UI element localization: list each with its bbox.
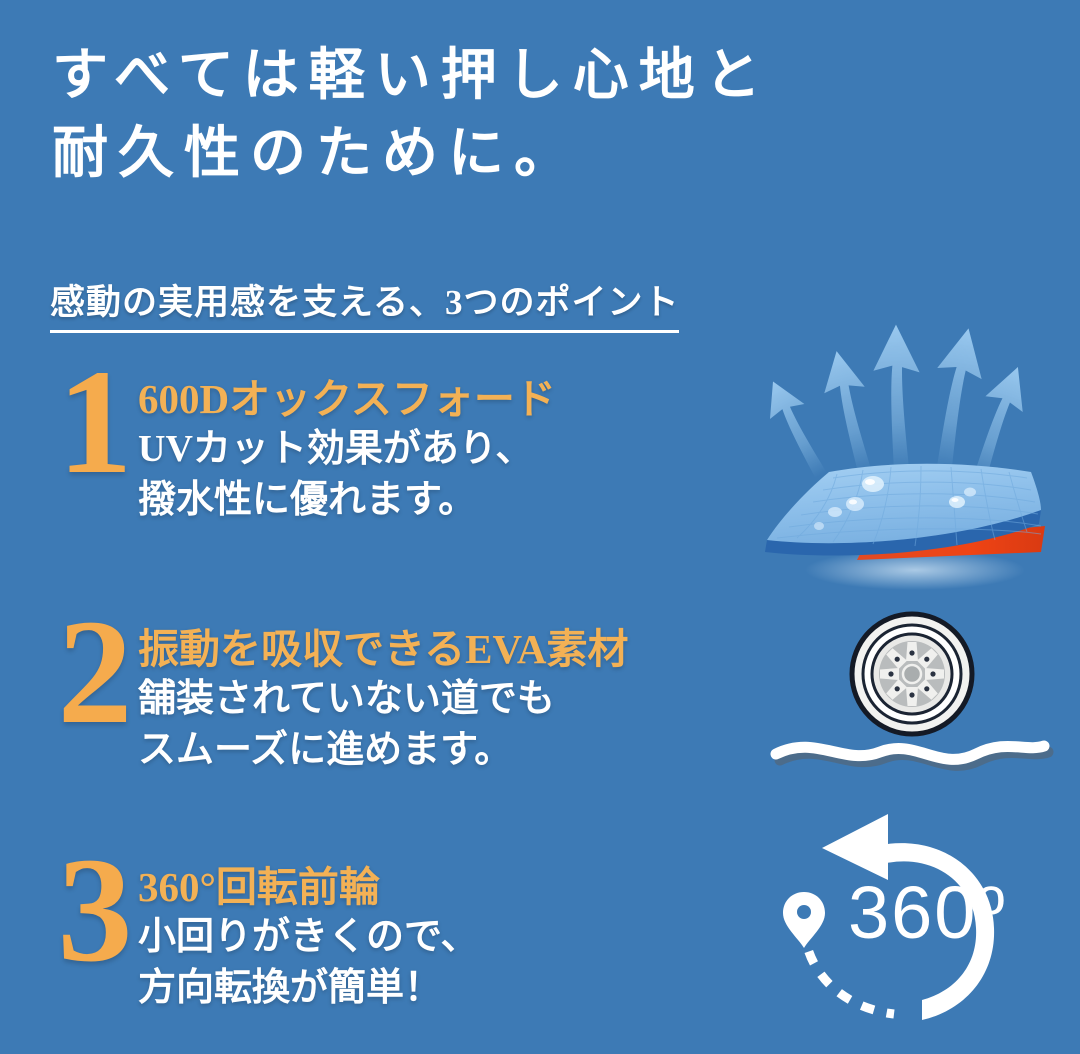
point-desc-2-line-1: 舗装されていない道でも (138, 674, 628, 725)
feature-point-3: 3 360°回転前輪 小回りがきくので、 方向転換が簡単！ (52, 858, 478, 1014)
point-number-2: 2 (52, 606, 138, 738)
point-body-3: 360°回転前輪 小回りがきくので、 方向転換が簡単！ (138, 858, 478, 1014)
point-desc-1-line-2: 撥水性に優れます。 (138, 475, 556, 526)
point-title-3: 360°回転前輪 (138, 862, 478, 912)
subtitle: 感動の実用感を支える、3つのポイント (50, 283, 679, 333)
point-desc-3-line-1: 小回りがきくので、 (138, 912, 478, 963)
point-number-3: 3 (52, 844, 138, 976)
water-repellent-fabric-icon (745, 312, 1075, 597)
360-rotation-icon: 360º (770, 808, 1062, 1040)
point-description-2: 舗装されていない道でも スムーズに進めます。 (138, 674, 628, 776)
tire-icon (852, 614, 972, 734)
terrain-waves (776, 746, 1048, 765)
headline-line-2: 耐久性のために。 (52, 114, 952, 192)
location-pin-icon (783, 892, 825, 948)
point-desc-1-line-1: UVカット効果があり、 (138, 424, 556, 475)
feature-point-2: 2 振動を吸収できるEVA素材 舗装されていない道でも スムーズに進めます。 (52, 620, 628, 776)
rotation-label: 360º (848, 871, 1007, 954)
point-number-1: 1 (52, 356, 138, 488)
point-description-1: UVカット効果があり、 撥水性に優れます。 (138, 424, 556, 526)
point-description-3: 小回りがきくので、 方向転換が簡単！ (138, 912, 478, 1014)
point-body-2: 振動を吸収できるEVA素材 舗装されていない道でも スムーズに進めます。 (138, 620, 628, 776)
point-desc-2-line-2: スムーズに進めます。 (138, 725, 628, 776)
point-desc-3-line-2: 方向転換が簡単！ (138, 963, 478, 1014)
promo-infographic: すべては軽い押し心地と 耐久性のために。 感動の実用感を支える、3つのポイント … (0, 0, 1080, 1054)
point-title-1: 600Dオックスフォード (138, 374, 556, 424)
headline-line-1: すべては軽い押し心地と (52, 36, 952, 114)
feature-point-1: 1 600Dオックスフォード UVカット効果があり、 撥水性に優れます。 (52, 370, 556, 526)
point-title-2: 振動を吸収できるEVA素材 (138, 624, 628, 674)
point-body-1: 600Dオックスフォード UVカット効果があり、 撥水性に優れます。 (138, 370, 556, 526)
wheel-on-rough-terrain-icon (762, 612, 1062, 794)
page-title: すべては軽い押し心地と 耐久性のために。 (52, 36, 952, 192)
